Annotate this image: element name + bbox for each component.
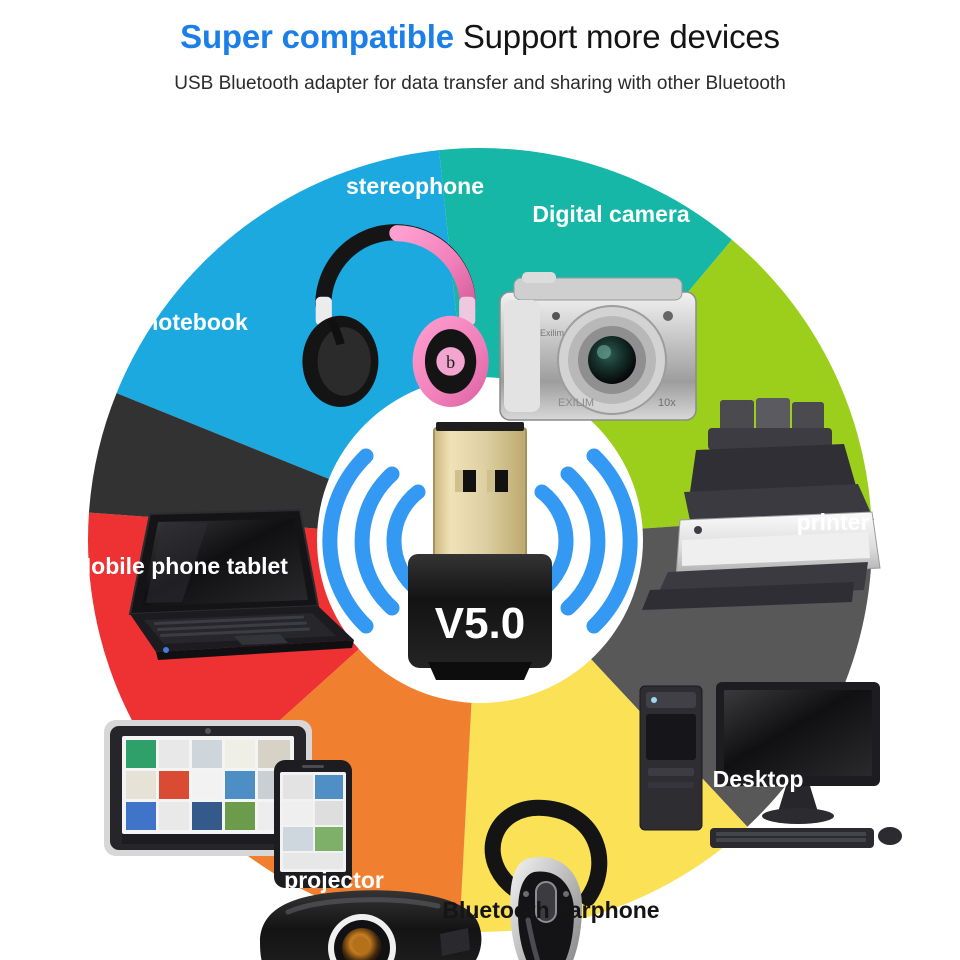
compatibility-wheel: V5.0 b (0, 122, 960, 960)
laptop-trackpad (234, 634, 288, 645)
device-compact-camera: Exilim 10x EXILIM (500, 272, 696, 420)
desktop-tower-vent (648, 768, 694, 776)
label-stereophone: stereophone (346, 173, 484, 199)
label-mobile-phone-tablet: Mobile phone tablet (72, 553, 288, 579)
camera-flash (663, 311, 673, 321)
camera-af-lamp (552, 312, 560, 320)
product-infographic: Super compatible Support more devices US… (0, 0, 960, 960)
adapter-body-base (428, 662, 532, 680)
usb-contact-right-hl (487, 470, 495, 492)
page-title: Super compatible Support more devices (0, 17, 960, 57)
camera-brand-mark: Exilim (540, 328, 564, 338)
monitor-screen (724, 690, 872, 776)
label-bluetooth-earphone: Bluetooth earphone (442, 897, 659, 923)
laptop-status-led (163, 647, 169, 653)
label-printer: printer (797, 509, 870, 535)
desktop-tower-vent-2 (648, 782, 694, 788)
label-notebook: notebook (144, 309, 248, 335)
label-digital-camera: Digital camera (532, 201, 689, 227)
phone-screen-thumbnails (283, 775, 343, 869)
desktop-mouse (878, 827, 902, 845)
ear-cup-left-pad (318, 327, 371, 395)
printer-power-led (694, 526, 702, 534)
printer-paper-tray-top (708, 398, 832, 450)
monitor-stand-base (762, 808, 834, 824)
projector-lens-center (354, 938, 370, 954)
camera-lens-glass (588, 336, 636, 384)
header-banner: Super compatible Support more devices US… (0, 0, 960, 122)
usb-connector-top-edge (436, 422, 524, 431)
camera-lens-reflection (597, 345, 611, 359)
version-label: V5.0 (435, 599, 526, 648)
camera-shutter-button (522, 272, 556, 283)
camera-zoom-mark: 10x (658, 397, 676, 409)
headphone-logo-glyph: b (446, 352, 455, 372)
label-desktop: Desktop (713, 766, 804, 792)
headline-accent: Super compatible (180, 18, 454, 55)
headline-rest: Support more devices (463, 18, 780, 55)
camera-model-mark: EXILIM (558, 397, 594, 409)
camera-grip (504, 300, 540, 412)
desktop-tower-panel (646, 714, 696, 760)
device-desktop-computer (640, 682, 902, 848)
usb-connector (434, 428, 526, 560)
tablet-screen-thumbnails (126, 740, 290, 830)
desktop-power-led (651, 697, 657, 703)
page-subtitle: USB Bluetooth adapter for data transfer … (0, 72, 960, 96)
phone-speaker (302, 765, 324, 768)
label-projector: projector (284, 867, 384, 893)
tablet-navbar (122, 834, 294, 844)
usb-contact-left-hl (455, 470, 463, 492)
printer-rear-feeder (690, 444, 856, 492)
tablet-front-camera (205, 728, 211, 734)
